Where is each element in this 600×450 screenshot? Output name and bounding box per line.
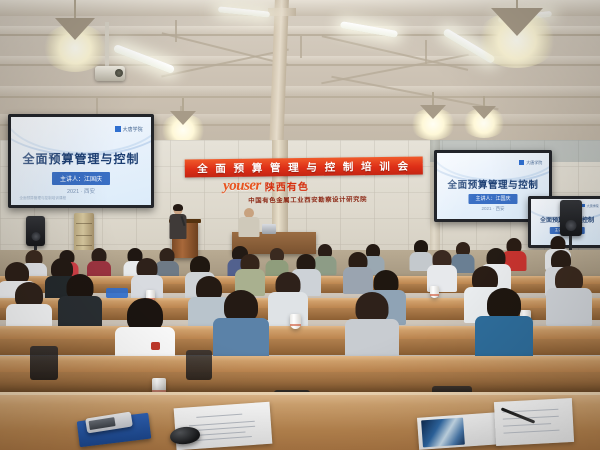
- presenter-at-podium: [168, 205, 188, 239]
- banner-headline-bar: 全 面 预 算 管 理 与 控 制 培 训 会: [185, 157, 423, 178]
- slide-title: 全面预算管理与控制: [11, 150, 151, 167]
- attendee: [548, 266, 590, 322]
- attendee: [216, 290, 266, 352]
- slide-brand: 大唐学院: [582, 204, 599, 208]
- attendee: [478, 288, 530, 352]
- slide-title: 全面预算管理与控制: [437, 177, 549, 191]
- blue-tray: [106, 288, 128, 298]
- attendee: [118, 298, 172, 362]
- banner-subtitle: 中国有色金属工业西安勘察设计研究院: [225, 194, 390, 205]
- chair: [186, 350, 212, 380]
- chair: [30, 346, 58, 380]
- slide-date: 2021 · 西安: [11, 187, 151, 195]
- pendant-lamp: [52, 0, 98, 56]
- banner-headline: 全 面 预 算 管 理 与 控 制 培 训 会: [197, 158, 410, 176]
- slide-presenter: 主讲人：江国庆: [52, 172, 110, 185]
- photo-scene: 全 面 预 算 管 理 与 控 制 培 训 会 youser 陕西有色 中国有色…: [0, 0, 600, 450]
- pa-speaker-left: [26, 216, 45, 246]
- laptop: [262, 224, 276, 234]
- banner-logo-cn: 陕西有色: [265, 178, 309, 194]
- brochure-cover: [421, 418, 465, 448]
- pendant-lamp: [470, 96, 498, 132]
- support-beam: [269, 0, 289, 150]
- pa-speaker-right: [560, 200, 582, 236]
- paper-cup: [290, 314, 301, 329]
- attendee: [60, 274, 100, 328]
- seated-host: [238, 208, 260, 236]
- slide-brand: 大唐学院: [115, 126, 143, 133]
- paper-cup: [430, 286, 439, 298]
- slide-footer: 全面预算管理与控制培训课程: [19, 196, 66, 201]
- pendant-lamp: [488, 0, 546, 58]
- attendee: [236, 254, 264, 294]
- event-banner: 全 面 预 算 管 理 与 控 制 培 训 会 youser 陕西有色 中国有色…: [185, 157, 424, 212]
- banner-logo: youser 陕西有色: [223, 176, 393, 195]
- attendee: [428, 250, 456, 290]
- pendant-lamp: [418, 92, 448, 130]
- attendee: [348, 292, 396, 354]
- slide-brand: 大唐学院: [519, 160, 542, 166]
- left-projection-screen: 大唐学院 全面预算管理与控制 主讲人：江国庆 2021 · 西安 全面预算管理与…: [8, 114, 154, 208]
- foreground-desk-edge: [0, 392, 600, 395]
- pendant-lamp: [168, 98, 198, 136]
- banner-logo-latin: youser: [223, 178, 261, 195]
- slide-presenter: 主讲人：江国庆: [468, 194, 517, 204]
- ceiling-projector-icon: [95, 22, 129, 84]
